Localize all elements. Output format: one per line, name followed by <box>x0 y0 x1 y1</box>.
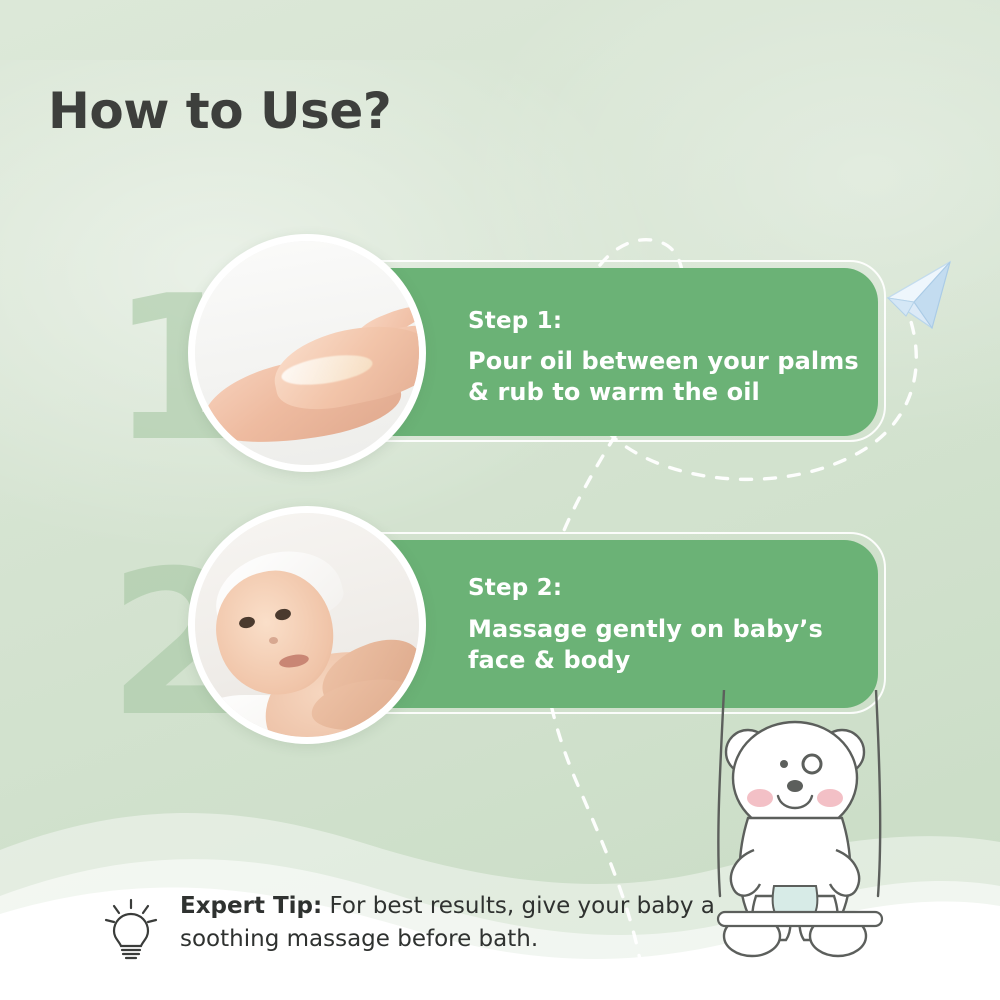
teddy-bear-on-swing <box>690 690 910 980</box>
paper-plane-icon <box>880 258 956 338</box>
swing-seat <box>718 912 882 926</box>
expert-tip-prefix: Expert Tip: <box>180 893 322 919</box>
teddy-eye-left <box>780 760 788 768</box>
teddy-body <box>718 722 882 956</box>
step-2-photo <box>188 506 426 744</box>
step-2-description: Massage gently on baby’s face & body <box>468 614 868 675</box>
expert-tip-text: Expert Tip: For best results, give your … <box>180 890 720 955</box>
infographic-poster: How to Use? 1 2 Step 1: Pour oil between… <box>0 0 1000 1000</box>
hands-with-oil-photo <box>195 241 419 465</box>
step-1-photo <box>188 234 426 472</box>
step-1-label: Step 1: <box>468 308 562 334</box>
teddy-cheek-left <box>747 789 773 807</box>
baby-nose <box>269 637 278 644</box>
swing-rope-left <box>718 690 724 896</box>
step-1-description: Pour oil between your palms & rub to war… <box>468 346 868 407</box>
teddy-nose <box>787 780 803 792</box>
baby-massage-photo <box>195 513 419 737</box>
lightbulb-icon <box>104 896 158 962</box>
expert-tip: Expert Tip: For best results, give your … <box>104 890 720 962</box>
step-2-label: Step 2: <box>468 575 562 601</box>
teddy-cheek-right <box>817 789 843 807</box>
